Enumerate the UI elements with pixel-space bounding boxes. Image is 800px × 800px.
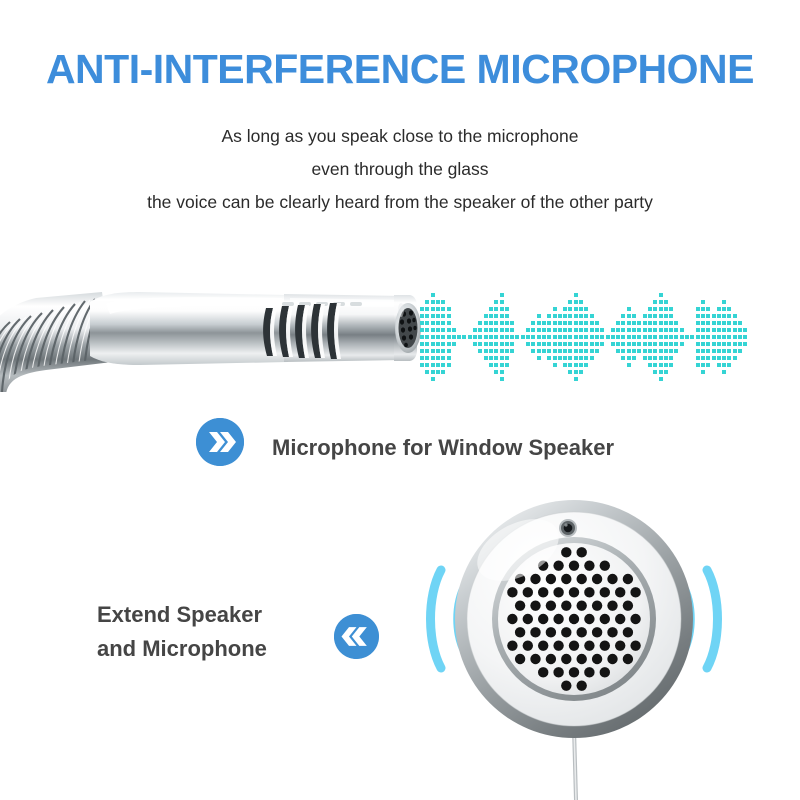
grille-hole (592, 654, 602, 664)
waveform-dot (489, 356, 493, 360)
waveform-dot (590, 349, 594, 353)
waveform-column (468, 276, 473, 394)
waveform-dot (489, 314, 493, 318)
grille-hole (553, 614, 563, 624)
waveform-column (505, 276, 510, 394)
waveform-dot (727, 328, 731, 332)
waveform-dot (425, 307, 429, 311)
grille-hole (577, 680, 587, 690)
waveform-dot (674, 328, 678, 332)
waveform-dot (701, 356, 705, 360)
waveform-column (521, 276, 526, 394)
waveform-dot (568, 307, 572, 311)
waveform-dot (494, 370, 498, 374)
waveform-dot (537, 335, 541, 339)
waveform-dot (537, 328, 541, 332)
waveform-dot (648, 349, 652, 353)
waveform-dot (669, 356, 673, 360)
waveform-dot (547, 321, 551, 325)
waveform-dot (733, 349, 737, 353)
waveform-dot (717, 328, 721, 332)
waveform-dot (473, 328, 477, 332)
grille-hole (600, 667, 610, 677)
waveform-dot (696, 356, 700, 360)
waveform-dot (632, 321, 636, 325)
waveform-dot (484, 328, 488, 332)
waveform-dot (727, 321, 731, 325)
page-title: ANTI-INTERFERENCE MICROPHONE (0, 46, 800, 93)
waveform-dot (648, 342, 652, 346)
waveform-dot (595, 335, 599, 339)
waveform-dot (579, 307, 583, 311)
waveform-dot (542, 349, 546, 353)
grille-hole (623, 654, 633, 664)
waveform-dot (500, 349, 504, 353)
waveform-dot (500, 377, 504, 381)
waveform-dot (669, 342, 673, 346)
waveform-column (616, 276, 621, 394)
waveform-dot (526, 342, 530, 346)
waveform-dot (722, 349, 726, 353)
waveform-dot (500, 307, 504, 311)
grille-hole (577, 627, 587, 637)
waveform-dot (553, 328, 557, 332)
waveform-dot (563, 307, 567, 311)
waveform-dot (627, 314, 631, 318)
waveform-dot (447, 349, 451, 353)
waveform-dot (584, 349, 588, 353)
waveform-dot (531, 335, 535, 339)
waveform-dot (436, 328, 440, 332)
waveform-dot (701, 370, 705, 374)
waveform-dot (696, 342, 700, 346)
waveform-dot (441, 300, 445, 304)
grille-hole (600, 640, 610, 650)
waveform-column (701, 276, 706, 394)
waveform-dot (659, 335, 663, 339)
waveform-dot (717, 342, 721, 346)
waveform-dot (632, 356, 636, 360)
waveform-dot (505, 314, 509, 318)
waveform-dot (574, 342, 578, 346)
waveform-dot (579, 356, 583, 360)
grille-hole (607, 654, 617, 664)
waveform-dot (563, 314, 567, 318)
waveform-dot (500, 321, 504, 325)
waveform-column (659, 276, 664, 394)
waveform-dot (637, 342, 641, 346)
waveform-column (722, 276, 727, 394)
waveform-dot (478, 335, 482, 339)
waveform-dot (701, 342, 705, 346)
waveform-dot (484, 349, 488, 353)
waveform-dot (526, 335, 530, 339)
grille-hole (623, 627, 633, 637)
waveform-dot (643, 349, 647, 353)
waveform-dot (441, 370, 445, 374)
grille-hole (546, 574, 556, 584)
waveform-dot (441, 342, 445, 346)
waveform-dot (420, 363, 424, 367)
waveform-dot (489, 328, 493, 332)
waveform-column (600, 276, 605, 394)
waveform-dot (627, 342, 631, 346)
waveform-dot (436, 342, 440, 346)
waveform-column (733, 276, 738, 394)
grille-hole (577, 654, 587, 664)
waveform-dot (627, 328, 631, 332)
waveform-column (637, 276, 642, 394)
grille-hole (615, 640, 625, 650)
grille-hole (561, 627, 571, 637)
grille-hole (584, 640, 594, 650)
grille-hole (600, 587, 610, 597)
waveform-column (579, 276, 584, 394)
waveform-dot (468, 335, 472, 339)
waveform-dot (436, 335, 440, 339)
waveform-dot (590, 328, 594, 332)
waveform-column (743, 276, 748, 394)
waveform-dot (696, 349, 700, 353)
subtitle-line-1: As long as you speak close to the microp… (0, 120, 800, 153)
waveform-dot (659, 307, 663, 311)
waveform-column (611, 276, 616, 394)
waveform-dot (505, 363, 509, 367)
waveform-dot (643, 342, 647, 346)
waveform-dot (500, 356, 504, 360)
waveform-dot (579, 363, 583, 367)
waveform-dot (664, 328, 668, 332)
waveform-dot (584, 328, 588, 332)
waveform-column (590, 276, 595, 394)
waveform-dot (611, 335, 615, 339)
waveform-dot (717, 335, 721, 339)
waveform-dot (616, 349, 620, 353)
waveform-dot (727, 363, 731, 367)
subtitle-block: As long as you speak close to the microp… (0, 120, 800, 219)
waveform-column (680, 276, 685, 394)
feature-label-speaker-line2: and Microphone (97, 632, 267, 666)
waveform-dot (436, 370, 440, 374)
waveform-dot (674, 349, 678, 353)
waveform-dot (425, 314, 429, 318)
waveform-dot (441, 328, 445, 332)
waveform-dot (738, 321, 742, 325)
waveform-dot (669, 307, 673, 311)
waveform-dot (664, 335, 668, 339)
waveform-dot (547, 342, 551, 346)
waveform-dot (706, 335, 710, 339)
waveform-dot (568, 321, 572, 325)
waveform-dot (441, 314, 445, 318)
waveform-dot (696, 321, 700, 325)
grille-hole (630, 587, 640, 597)
waveform-dot (484, 342, 488, 346)
waveform-column (526, 276, 531, 394)
waveform-dot (584, 363, 588, 367)
waveform-dot (484, 356, 488, 360)
waveform-dot (733, 356, 737, 360)
waveform-column (717, 276, 722, 394)
waveform-dot (441, 356, 445, 360)
grille-hole (546, 627, 556, 637)
waveform-dot (616, 328, 620, 332)
waveform-dot (632, 342, 636, 346)
waveform-dot (722, 328, 726, 332)
waveform-dot (505, 321, 509, 325)
waveform-dot (717, 349, 721, 353)
waveform-column (669, 276, 674, 394)
waveform-dot (574, 321, 578, 325)
grille-hole (546, 600, 556, 610)
waveform-dot (648, 363, 652, 367)
waveform-dot (431, 307, 435, 311)
waveform-dot (664, 300, 668, 304)
waveform-dot (542, 328, 546, 332)
waveform-dot (473, 335, 477, 339)
waveform-dot (701, 300, 705, 304)
waveform-dot (664, 349, 668, 353)
waveform-column (431, 276, 436, 394)
waveform-dot (727, 307, 731, 311)
waveform-dot (558, 335, 562, 339)
waveform-dot (664, 356, 668, 360)
waveform-column (563, 276, 568, 394)
grille-hole (561, 574, 571, 584)
waveform-column (452, 276, 457, 394)
waveform-column (690, 276, 695, 394)
waveform-dot (489, 349, 493, 353)
waveform-dot (637, 349, 641, 353)
waveform-dot (452, 342, 456, 346)
waveform-dot (425, 335, 429, 339)
waveform-dot (595, 342, 599, 346)
waveform-dot (537, 321, 541, 325)
waveform-dot (563, 356, 567, 360)
waveform-column (515, 276, 520, 394)
waveform-dot (632, 328, 636, 332)
waveform-dot (568, 335, 572, 339)
waveform-dot (643, 356, 647, 360)
waveform-column (568, 276, 573, 394)
waveform-dot (722, 321, 726, 325)
waveform-dot (664, 321, 668, 325)
grille-hole (615, 587, 625, 597)
waveform-dot (505, 342, 509, 346)
waveform-dot (706, 307, 710, 311)
waveform-dot (627, 335, 631, 339)
waveform-dot (441, 363, 445, 367)
waveform-dot (452, 328, 456, 332)
waveform-column (595, 276, 600, 394)
waveform-column (606, 276, 611, 394)
waveform-dot (616, 321, 620, 325)
grille-hole (507, 614, 517, 624)
waveform-dot (531, 321, 535, 325)
waveform-dot (579, 370, 583, 374)
waveform-dot (447, 307, 451, 311)
waveform-column (473, 276, 478, 394)
waveform-dot (685, 335, 689, 339)
waveform-dot (637, 335, 641, 339)
waveform-dot (510, 342, 514, 346)
grille-hole (584, 667, 594, 677)
waveform-dot (579, 300, 583, 304)
waveform-dot (494, 349, 498, 353)
waveform-dot (457, 335, 461, 339)
grille-hole (569, 587, 579, 597)
waveform-dot (568, 356, 572, 360)
grille-hole (584, 587, 594, 597)
waveform-column (653, 276, 658, 394)
waveform-dot (738, 349, 742, 353)
waveform-dot (706, 349, 710, 353)
waveform-dot (547, 356, 551, 360)
pin-hole-microphone (559, 519, 577, 537)
grille-hole (630, 640, 640, 650)
waveform-dot (659, 328, 663, 332)
waveform-dot (574, 293, 578, 297)
double-chevron-right-icon (196, 418, 244, 466)
waveform-dot (568, 342, 572, 346)
waveform-dot (669, 328, 673, 332)
waveform-dot (436, 321, 440, 325)
waveform-dot (447, 335, 451, 339)
grille-hole (592, 627, 602, 637)
waveform-dot (621, 321, 625, 325)
waveform-dot (547, 328, 551, 332)
waveform-dot (621, 349, 625, 353)
waveform-dot (659, 300, 663, 304)
waveform-dot (621, 335, 625, 339)
waveform-column (489, 276, 494, 394)
waveform-dot (690, 335, 694, 339)
double-chevron-left-icon (334, 614, 379, 659)
waveform-dot (680, 342, 684, 346)
waveform-dot (722, 307, 726, 311)
waveform-dot (484, 321, 488, 325)
waveform-dot (563, 335, 567, 339)
waveform-dot (420, 314, 424, 318)
waveform-dot (489, 342, 493, 346)
waveform-dot (717, 314, 721, 318)
waveform-dot (653, 314, 657, 318)
waveform-column (648, 276, 653, 394)
waveform-dot (436, 307, 440, 311)
waveform-dot (712, 356, 716, 360)
waveform-dot (574, 363, 578, 367)
waveform-dot (563, 342, 567, 346)
waveform-dot (659, 356, 663, 360)
waveform-dot (712, 328, 716, 332)
waveform-dot (595, 349, 599, 353)
waveform-dot (537, 342, 541, 346)
waveform-dot (531, 349, 535, 353)
grille-hole (623, 574, 633, 584)
waveform-dot (653, 335, 657, 339)
waveform-dot (447, 314, 451, 318)
waveform-dot (579, 321, 583, 325)
waveform-dot (643, 328, 647, 332)
waveform-column (643, 276, 648, 394)
waveform-dot (489, 335, 493, 339)
waveform-dot (706, 328, 710, 332)
waveform-dot (621, 314, 625, 318)
feature-label-microphone: Microphone for Window Speaker (272, 431, 614, 465)
waveform-dot (674, 321, 678, 325)
waveform-dot (478, 342, 482, 346)
mesh-grille-tip (394, 295, 421, 361)
waveform-dot (701, 363, 705, 367)
waveform-column (478, 276, 483, 394)
feature-label-speaker: Extend Speaker and Microphone (97, 598, 267, 666)
waveform-dot (478, 328, 482, 332)
waveform-dot (717, 321, 721, 325)
waveform-dot (600, 335, 604, 339)
waveform-dot (722, 356, 726, 360)
waveform-dot (425, 300, 429, 304)
waveform-column (553, 276, 558, 394)
waveform-dot (568, 300, 572, 304)
waveform-dot (680, 335, 684, 339)
waveform-dot (664, 314, 668, 318)
waveform-dot (600, 342, 604, 346)
waveform-column (420, 276, 425, 394)
waveform-dot (727, 314, 731, 318)
waveform-dot (717, 307, 721, 311)
grille-hole (530, 574, 540, 584)
waveform-dot (722, 314, 726, 318)
waveform-dot (696, 363, 700, 367)
waveform-dot (733, 314, 737, 318)
waveform-dot (420, 335, 424, 339)
waveform-dot (447, 321, 451, 325)
waveform-dot (584, 335, 588, 339)
waveform-dot (436, 314, 440, 318)
waveform-dot (669, 349, 673, 353)
grille-hole (577, 574, 587, 584)
waveform-dot (462, 335, 466, 339)
waveform-dot (431, 300, 435, 304)
waveform-dot (590, 321, 594, 325)
waveform-dot (643, 314, 647, 318)
waveform-dot (579, 342, 583, 346)
waveform-dot (669, 321, 673, 325)
waveform-dot (420, 356, 424, 360)
grille-hole (592, 574, 602, 584)
waveform-dot (579, 328, 583, 332)
waveform-dot (510, 328, 514, 332)
waveform-dot (627, 349, 631, 353)
waveform-dot (627, 307, 631, 311)
waveform-dot (653, 300, 657, 304)
grille-hole (546, 654, 556, 664)
waveform-dot (584, 342, 588, 346)
waveform-dot (441, 335, 445, 339)
waveform-dot (478, 349, 482, 353)
waveform-dot (531, 328, 535, 332)
waveform-dot (717, 356, 721, 360)
waveform-dot (431, 349, 435, 353)
waveform-dot (526, 328, 530, 332)
waveform-dot (706, 356, 710, 360)
waveform-dot (521, 335, 525, 339)
waveform-column (425, 276, 430, 394)
waveform-dot (590, 314, 594, 318)
waveform-dot (674, 342, 678, 346)
grille-hole (538, 614, 548, 624)
waveform-dot (722, 300, 726, 304)
